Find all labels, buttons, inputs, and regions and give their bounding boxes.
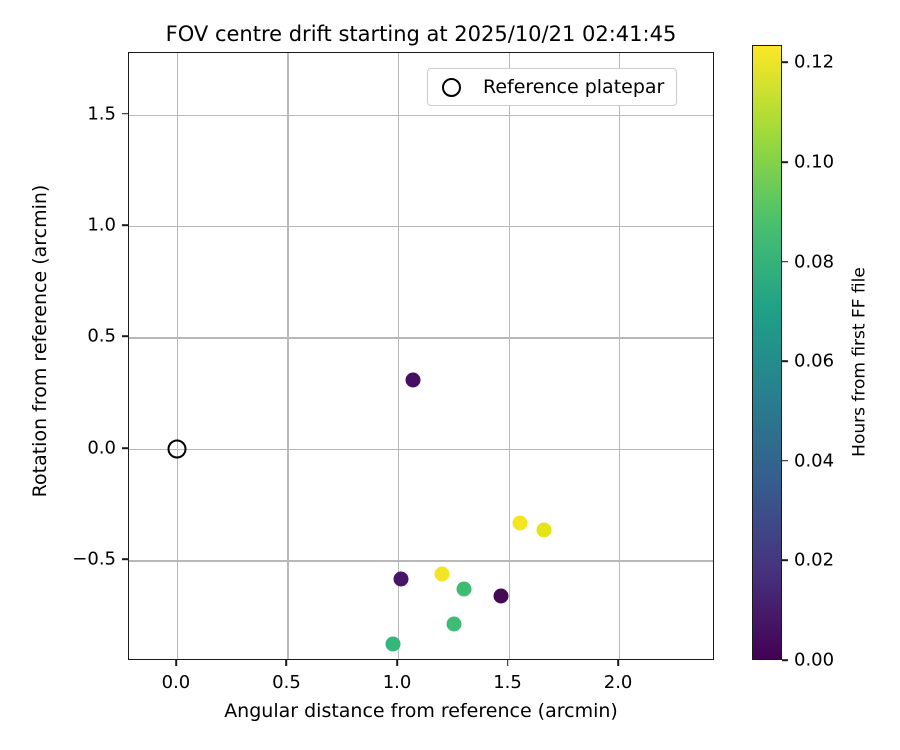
x-tick-mark [507, 660, 509, 666]
colorbar-tick-mark [782, 261, 788, 263]
scatter-point [513, 515, 528, 530]
y-tick-label: 0.0 [8, 437, 116, 458]
y-tick-mark [122, 559, 128, 561]
gridline-vertical [509, 53, 510, 659]
scatter-point [446, 617, 461, 632]
y-tick-label: 0.5 [8, 326, 116, 347]
legend-entry-label: Reference platepar [483, 76, 664, 98]
x-tick-label: 0.5 [272, 672, 301, 693]
x-axis-label: Angular distance from reference (arcmin) [128, 700, 714, 722]
gridline-horizontal [129, 115, 713, 116]
reference-platepar-point [167, 439, 186, 458]
x-tick-label: 0.0 [162, 672, 191, 693]
y-tick-label: 1.5 [8, 103, 116, 124]
gridline-vertical [287, 53, 288, 659]
colorbar-tick-label: 0.08 [794, 251, 834, 272]
colorbar-tick-mark [782, 360, 788, 362]
scatter-point [394, 572, 409, 587]
y-tick-mark [122, 447, 128, 449]
y-tick-mark [122, 113, 128, 115]
colorbar-label: Hours from first FF file [850, 55, 870, 670]
colorbar-tick-label: 0.10 [794, 152, 834, 173]
gridline-vertical [398, 53, 399, 659]
y-tick-label: 1.0 [8, 215, 116, 236]
colorbar-tick-mark [782, 460, 788, 462]
x-tick-mark [175, 660, 177, 666]
colorbar-tick-label: 0.02 [794, 550, 834, 571]
reference-platepar-marker-icon [442, 78, 461, 97]
x-tick-label: 2.0 [604, 672, 633, 693]
x-tick-label: 1.5 [493, 672, 522, 693]
scatter-point [457, 582, 472, 597]
scatter-point [537, 522, 552, 537]
y-tick-label: −0.5 [8, 549, 116, 570]
gridline-vertical [177, 53, 178, 659]
scatter-point [386, 637, 401, 652]
gridline-horizontal [129, 226, 713, 227]
gridline-horizontal [129, 449, 713, 450]
y-axis-label: Rotation from reference (arcmin) [29, 37, 51, 645]
x-tick-mark [396, 660, 398, 666]
x-tick-mark [286, 660, 288, 666]
legend: Reference platepar [427, 68, 677, 106]
y-tick-mark [122, 336, 128, 338]
scatter-point [405, 373, 420, 388]
scatter-point [494, 589, 509, 604]
colorbar-tick-mark [782, 62, 788, 64]
figure-canvas: FOV centre drift starting at 2025/10/21 … [0, 0, 900, 750]
colorbar-tick-label: 0.04 [794, 450, 834, 471]
colorbar-tick-mark [782, 560, 788, 562]
colorbar-tick-label: 0.00 [794, 650, 834, 671]
gridline-horizontal [129, 337, 713, 338]
colorbar-tick-label: 0.12 [794, 52, 834, 73]
colorbar-gradient [752, 45, 782, 660]
colorbar: 0.000.020.040.060.080.100.12 [752, 45, 782, 660]
scatter-point [435, 567, 450, 582]
colorbar-tick-mark [782, 161, 788, 163]
colorbar-tick-label: 0.06 [794, 351, 834, 372]
gridline-horizontal [129, 560, 713, 561]
x-tick-label: 1.0 [383, 672, 412, 693]
gridline-vertical [619, 53, 620, 659]
plot-area [128, 52, 714, 660]
chart-title: FOV centre drift starting at 2025/10/21 … [128, 22, 714, 46]
x-tick-mark [617, 660, 619, 666]
colorbar-tick-mark [782, 659, 788, 661]
y-tick-mark [122, 224, 128, 226]
